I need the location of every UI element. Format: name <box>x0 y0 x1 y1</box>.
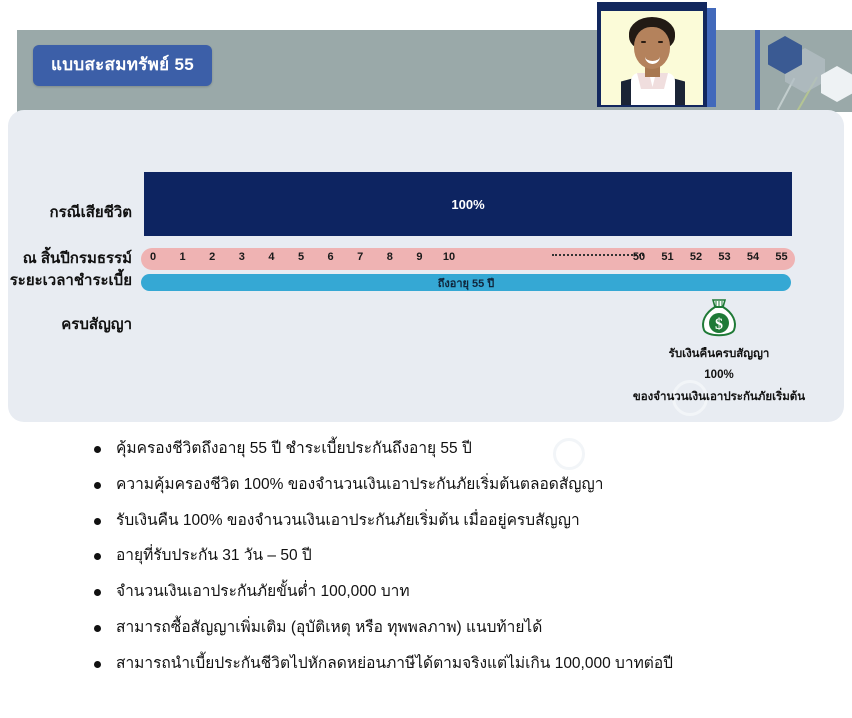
feature-bullet-3: รับเงินคืน 100% ของจำนวนเงินเอาประกันภัย… <box>88 512 848 530</box>
feature-bullet-list: คุ้มครองชีวิตถึงอายุ 55 ปี ชำระเบี้ยประก… <box>88 440 848 691</box>
maturity-payout-line2: 100% <box>600 365 838 386</box>
row-label-death: กรณีเสียชีวิต <box>0 200 132 224</box>
premium-payment-label: ถึงอายุ 55 ปี <box>438 274 495 292</box>
row-label-premium-period: ระยะเวลาชำระเบี้ย <box>0 268 132 292</box>
timeline-tick-0: 0 <box>144 251 162 263</box>
hexagon-white-icon <box>821 66 852 102</box>
feature-bullet-2: ความคุ้มครองชีวิต 100% ของจำนวนเงินเอาปร… <box>88 476 848 494</box>
premium-payment-bar: ถึงอายุ 55 ปี <box>141 274 791 291</box>
feature-bullet-6: สามารถซื้อสัญญาเพิ่มเติม (อุบัติเหตุ หรื… <box>88 619 848 637</box>
maturity-payout-line1: รับเงินคืนครบสัญญา <box>600 344 838 365</box>
feature-bullet-7: สามารถนำเบี้ยประกันชีวิตไปหักลดหย่อนภาษี… <box>88 655 848 673</box>
timeline-tick-3: 3 <box>233 251 251 263</box>
timeline-tick-10: 10 <box>440 251 458 263</box>
row-label-maturity: ครบสัญญา <box>0 312 132 336</box>
banner-blue-strip <box>755 30 760 112</box>
timeline-tick-52: 52 <box>687 251 705 263</box>
maturity-payout-line3: ของจำนวนเงินเอาประกันภัยเริ่มต้น <box>600 387 838 408</box>
portrait-photo <box>601 11 703 105</box>
timeline-tick-7: 7 <box>351 251 369 263</box>
money-bag-icon: $ <box>697 298 741 340</box>
header-banner: แบบสะสมทรัพย์ 55 <box>0 0 852 115</box>
timeline-tick-6: 6 <box>322 251 340 263</box>
svg-text:$: $ <box>715 316 723 333</box>
timeline-tick-55: 55 <box>773 251 791 263</box>
banner-decoration <box>755 30 852 112</box>
timeline-tick-2: 2 <box>203 251 221 263</box>
hexagon-blue-icon <box>768 36 802 74</box>
feature-bullet-5: จำนวนเงินเอาประกันภัยขั้นต่ำ 100,000 บาท <box>88 583 848 601</box>
policy-year-timeline: 012345678910 505152535455 <box>141 248 795 270</box>
death-coverage-bar: 100% <box>144 172 792 236</box>
timeline-tick-5: 5 <box>292 251 310 263</box>
timeline-tick-54: 54 <box>744 251 762 263</box>
timeline-tick-53: 53 <box>716 251 734 263</box>
timeline-tick-9: 9 <box>410 251 428 263</box>
maturity-payout-block: $ รับเงินคืนครบสัญญา 100% ของจำนวนเงินเอ… <box>600 298 838 408</box>
feature-bullet-1: คุ้มครองชีวิตถึงอายุ 55 ปี ชำระเบี้ยประก… <box>88 440 848 458</box>
timeline-tick-4: 4 <box>262 251 280 263</box>
timeline-tick-50: 50 <box>630 251 648 263</box>
feature-bullet-4: อายุที่รับประกัน 31 วัน – 50 ปี <box>88 547 848 565</box>
timeline-tick-1: 1 <box>174 251 192 263</box>
photo-frame-accent <box>707 8 716 107</box>
timeline-tick-8: 8 <box>381 251 399 263</box>
timeline-tick-51: 51 <box>659 251 677 263</box>
row-label-end-of-year: ณ สิ้นปีกรมธรรม์ <box>0 246 132 270</box>
death-coverage-value: 100% <box>451 197 484 212</box>
product-title-badge: แบบสะสมทรัพย์ 55 <box>33 45 212 86</box>
